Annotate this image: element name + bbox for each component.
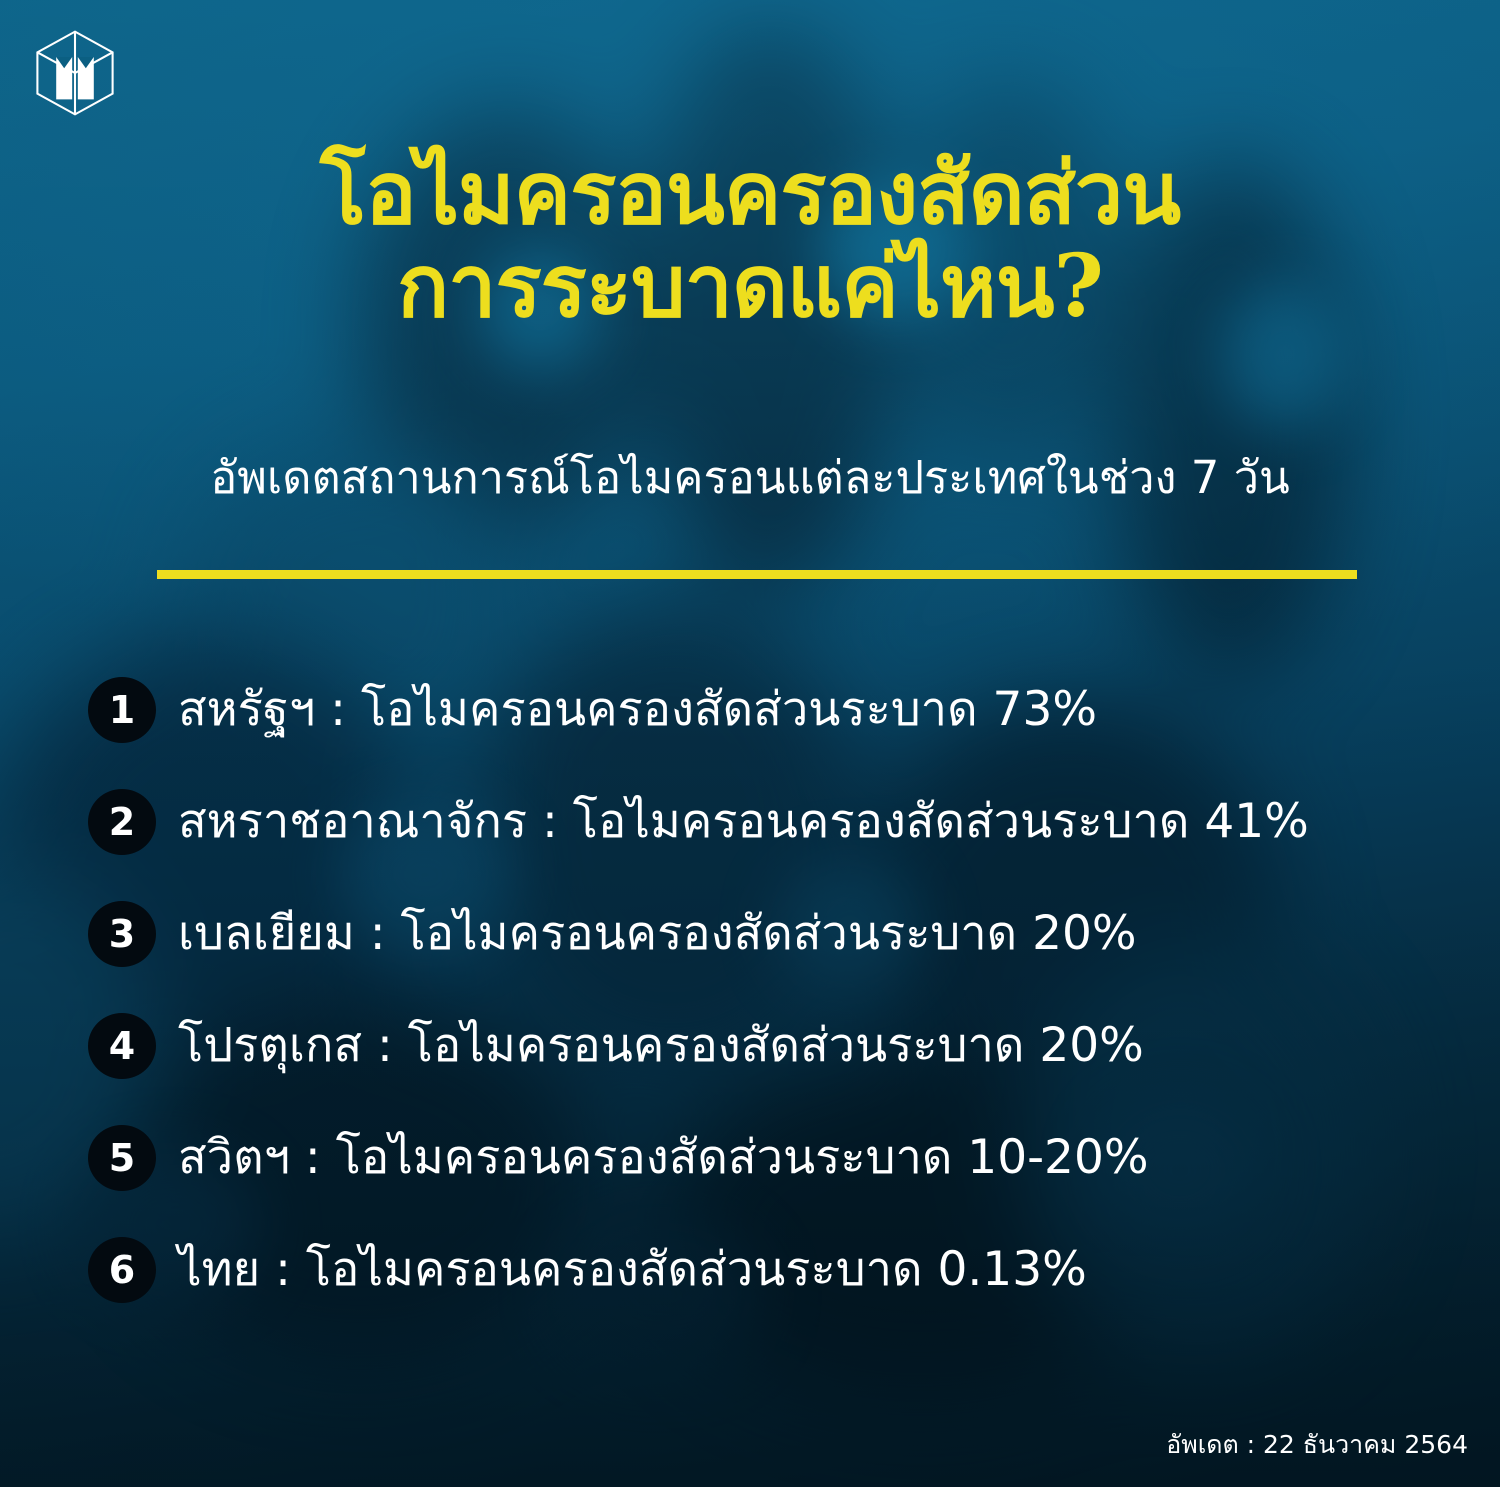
- list-item-label: สหรัฐฯ : โอไมครอนครองสัดส่วนระบาด 73%: [178, 684, 1097, 736]
- title-line-2: การระบาดแค่ไหน?: [0, 241, 1500, 334]
- page-title: โอไมครอนครองสัดส่วน การระบาดแค่ไหน?: [0, 148, 1500, 334]
- title-divider: [157, 570, 1357, 579]
- list-item: 5 สวิตฯ : โอไมครอนครองสัดส่วนระบาด 10-20…: [88, 1102, 1458, 1214]
- poster-content: โอไมครอนครองสัดส่วน การระบาดแค่ไหน? อัพเ…: [0, 0, 1500, 1487]
- list-item-badge: 5: [88, 1125, 156, 1191]
- list-item-badge: 4: [88, 1013, 156, 1079]
- infographic-poster: โอไมครอนครองสัดส่วน การระบาดแค่ไหน? อัพเ…: [0, 0, 1500, 1487]
- list-item-badge: 1: [88, 677, 156, 743]
- title-line-1: โอไมครอนครองสัดส่วน: [0, 148, 1500, 241]
- list-item-badge: 2: [88, 789, 156, 855]
- list-item: 4 โปรตุเกส : โอไมครอนครองสัดส่วนระบาด 20…: [88, 990, 1458, 1102]
- page-subtitle: อัพเดตสถานการณ์โอไมครอนแต่ละประเทศในช่วง…: [0, 452, 1500, 504]
- country-list: 1 สหรัฐฯ : โอไมครอนครองสัดส่วนระบาด 73% …: [88, 654, 1458, 1326]
- list-item-label: สวิตฯ : โอไมครอนครองสัดส่วนระบาด 10-20%: [178, 1132, 1149, 1184]
- list-item-badge: 3: [88, 901, 156, 967]
- list-item-label: เบลเยียม : โอไมครอนครองสัดส่วนระบาด 20%: [178, 908, 1137, 960]
- update-timestamp: อัพเดต : 22 ธันวาคม 2564: [1166, 1425, 1468, 1465]
- list-item: 3 เบลเยียม : โอไมครอนครองสัดส่วนระบาด 20…: [88, 878, 1458, 990]
- list-item-label: สหราชอาณาจักร : โอไมครอนครองสัดส่วนระบาด…: [178, 796, 1309, 848]
- list-item-badge: 6: [88, 1237, 156, 1303]
- cube-book-logo: [28, 26, 122, 120]
- list-item-label: ไทย : โอไมครอนครองสัดส่วนระบาด 0.13%: [178, 1244, 1087, 1296]
- list-item: 6 ไทย : โอไมครอนครองสัดส่วนระบาด 0.13%: [88, 1214, 1458, 1326]
- list-item: 2 สหราชอาณาจักร : โอไมครอนครองสัดส่วนระบ…: [88, 766, 1458, 878]
- list-item-label: โปรตุเกส : โอไมครอนครองสัดส่วนระบาด 20%: [178, 1020, 1144, 1072]
- list-item: 1 สหรัฐฯ : โอไมครอนครองสัดส่วนระบาด 73%: [88, 654, 1458, 766]
